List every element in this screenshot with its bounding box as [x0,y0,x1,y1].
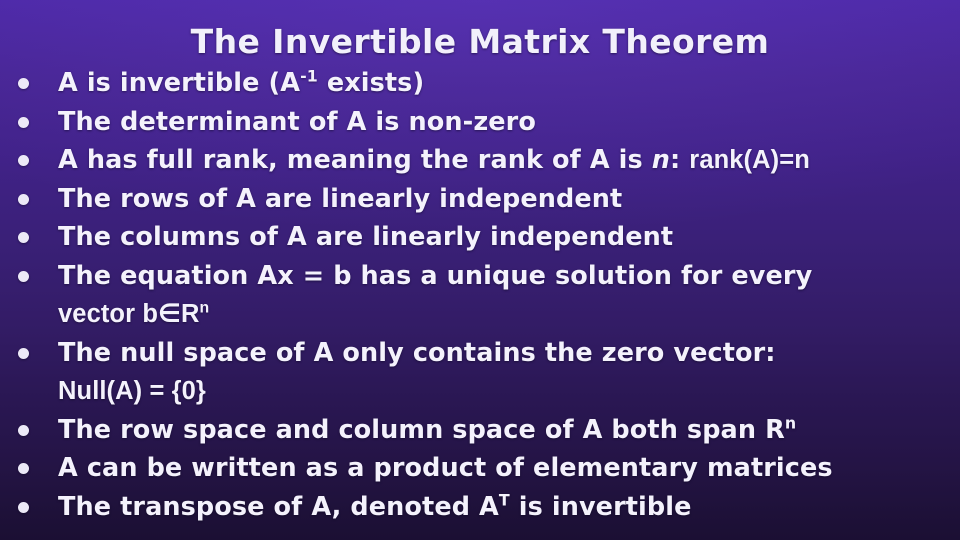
page-title: The Invertible Matrix Theorem [0,22,960,62]
text-run: is invertible [510,492,692,522]
math-notation: vector b [58,300,158,328]
bullet-dot-icon [18,425,29,436]
text-run: A can be written as a product of element… [58,453,833,483]
bullet-text: The null space of A only contains the ze… [58,338,776,407]
bullet-dot-icon [18,502,29,513]
bullet-dot-icon [18,194,29,205]
text-run: The equation Ax = b has a unique solutio… [58,261,812,291]
bullet-text: A can be written as a product of element… [58,453,833,483]
bullet-item-elementary-matrices: A can be written as a product of element… [0,449,960,488]
text-run: The row space and column space of A both… [58,415,785,445]
bullet-item-null-space: The null space of A only contains the ze… [0,334,960,411]
bullet-dot-icon [18,232,29,243]
bullet-item-invertible: A is invertible (A-1 exists) [0,64,960,103]
bullet-item-full-rank: A has full rank, meaning the rank of A i… [0,141,960,180]
bullet-dot-icon [18,155,29,166]
bullet-text: A is invertible (A-1 exists) [58,68,424,98]
text-run: The rows of A are linearly independent [58,184,622,214]
bullet-item-columns-independent: The columns of A are linearly independen… [0,218,960,257]
bullet-text: The determinant of A is non-zero [58,107,536,137]
text-run: exists) [318,68,424,98]
superscript: -1 [300,67,318,86]
math-notation: Null(A) = {0} [58,377,206,405]
superscript: n [199,300,209,317]
text-run: The determinant of A is non-zero [58,107,536,137]
bullet-dot-icon [18,348,29,359]
text-run: The transpose of A, denoted A [58,492,499,522]
bullet-item-determinant: The determinant of A is non-zero [0,103,960,142]
text-run: The null space of A only contains the ze… [58,338,776,368]
math-notation: R [181,300,200,328]
bullet-item-rows-independent: The rows of A are linearly independent [0,180,960,219]
bullet-list: A is invertible (A-1 exists)The determin… [0,64,960,526]
text-run: A has full rank, meaning the rank of A i… [58,145,652,175]
text-run: : [670,145,689,175]
bullet-text: The rows of A are linearly independent [58,184,622,214]
bullet-dot-icon [18,271,29,282]
math-notation: ∈ [158,300,181,328]
bullet-text: The columns of A are linearly independen… [58,222,673,252]
text-run: A is invertible (A [58,68,300,98]
bullet-text: The transpose of A, denoted AT is invert… [58,492,691,522]
bullet-text: A has full rank, meaning the rank of A i… [58,145,810,175]
superscript: n [785,413,796,432]
bullet-dot-icon [18,463,29,474]
bullet-item-unique-solution: The equation Ax = b has a unique solutio… [0,257,960,334]
bullet-item-span: The row space and column space of A both… [0,411,960,450]
bullet-item-transpose: The transpose of A, denoted AT is invert… [0,488,960,527]
text-run: The columns of A are linearly independen… [58,222,673,252]
bullet-text: The equation Ax = b has a unique solutio… [58,261,812,330]
math-notation: rank(A)=n [689,146,810,174]
bullet-dot-icon [18,117,29,128]
bullet-dot-icon [18,78,29,89]
slide-canvas: The Invertible Matrix Theorem A is inver… [0,0,960,540]
superscript: T [499,490,510,509]
bullet-text: The row space and column space of A both… [58,415,796,445]
italic-variable: n [652,145,670,175]
